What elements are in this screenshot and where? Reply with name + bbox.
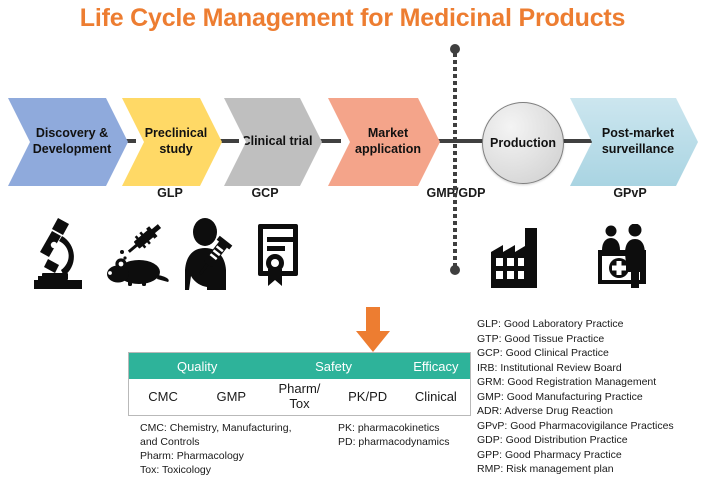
footnote-right-line-1: PK: pharmacokinetics <box>338 421 488 435</box>
divider-dot-bottom <box>450 265 460 275</box>
table-cell-cmc: CMC <box>129 379 197 415</box>
footnote-right-line-2: PD: pharmacodynamics <box>338 435 488 449</box>
table-cell-pkpd: PK/PD <box>334 379 402 415</box>
patient-injection-icon <box>183 218 239 295</box>
stage-production-label: Production <box>490 136 556 150</box>
legend-item-gpp: GPP: Good Pharmacy Practice <box>477 448 705 463</box>
legend-item-gpvp: GPvP: Good Pharmacovigilance Practices <box>477 419 705 434</box>
legend-item-adr: ADR: Adverse Drug Reaction <box>477 404 705 419</box>
table-cell-pharm-tox-line1: Pharm/ <box>279 381 321 396</box>
legend-item-gdp: GDP: Good Distribution Practice <box>477 433 705 448</box>
legend-item-rmp: RMP: Risk management plan <box>477 462 705 477</box>
quality-safety-efficacy-table: Quality Safety Efficacy CMC GMP Pharm/ T… <box>128 352 471 416</box>
footnote-right: PK: pharmacokinetics PD: pharmacodynamic… <box>338 421 488 449</box>
practice-label-glp: GLP <box>140 186 200 200</box>
practice-label-gcp: GCP <box>235 186 295 200</box>
microscope-icon <box>28 214 88 297</box>
stage-production[interactable]: Production <box>482 102 564 184</box>
legend-item-gtp: GTP: Good Tissue Practice <box>477 332 705 347</box>
lab-mouse-syringe-icon <box>98 222 170 293</box>
legend-item-grm: GRM: Good Registration Management <box>477 375 705 390</box>
table-cell-gmp: GMP <box>197 379 265 415</box>
table-header-safety: Safety <box>265 353 401 379</box>
stage-clinical-trial-label: Clinical trial <box>228 134 319 150</box>
divider-dot-top <box>450 44 460 54</box>
table-header-efficacy: Efficacy <box>402 353 470 379</box>
pharmacy-counter-icon <box>592 224 654 295</box>
stage-market-application[interactable]: Market application <box>328 98 440 186</box>
legend-item-gmp: GMP: Good Manufacturing Practice <box>477 390 705 405</box>
table-row: CMC GMP Pharm/ Tox PK/PD Clinical <box>129 379 470 415</box>
practice-label-gpvp: GPvP <box>600 186 660 200</box>
stage-discovery-development[interactable]: Discovery & Development <box>8 98 128 186</box>
footnote-left-line-1: CMC: Chemistry, Manufacturing, <box>140 421 340 435</box>
footnote-left-line-4: Tox: Toxicology <box>140 463 340 477</box>
gmp-gdp-divider-line <box>453 46 457 272</box>
abbreviation-legend: GLP: Good Laboratory Practice GTP: Good … <box>477 317 705 477</box>
legend-item-gcp: GCP: Good Clinical Practice <box>477 346 705 361</box>
legend-item-glp: GLP: Good Laboratory Practice <box>477 317 705 332</box>
certificate-icon <box>254 222 302 293</box>
footnote-left-line-3: Pharm: Pharmacology <box>140 449 340 463</box>
table-cell-clinical: Clinical <box>402 379 470 415</box>
table-cell-pharm-tox: Pharm/ Tox <box>265 379 333 415</box>
legend-item-irb: IRB: Institutional Review Board <box>477 361 705 376</box>
stage-market-application-label: Market application <box>328 126 440 157</box>
factory-icon <box>489 226 543 295</box>
table-cell-pharm-tox-line2: Tox <box>289 396 309 411</box>
stage-preclinical-study-label: Preclinical study <box>122 126 222 157</box>
stage-discovery-development-label: Discovery & Development <box>8 126 128 157</box>
down-arrow-icon <box>355 307 391 353</box>
page-title: Life Cycle Management for Medicinal Prod… <box>0 4 705 33</box>
table-header-quality: Quality <box>129 353 265 379</box>
footnote-left: CMC: Chemistry, Manufacturing, and Contr… <box>140 421 340 477</box>
table-header-row: Quality Safety Efficacy <box>129 353 470 379</box>
stage-preclinical-study[interactable]: Preclinical study <box>122 98 222 186</box>
lifecycle-flow-diagram: Discovery & Development Preclinical stud… <box>0 98 705 190</box>
footnote-left-line-2: and Controls <box>140 435 340 449</box>
